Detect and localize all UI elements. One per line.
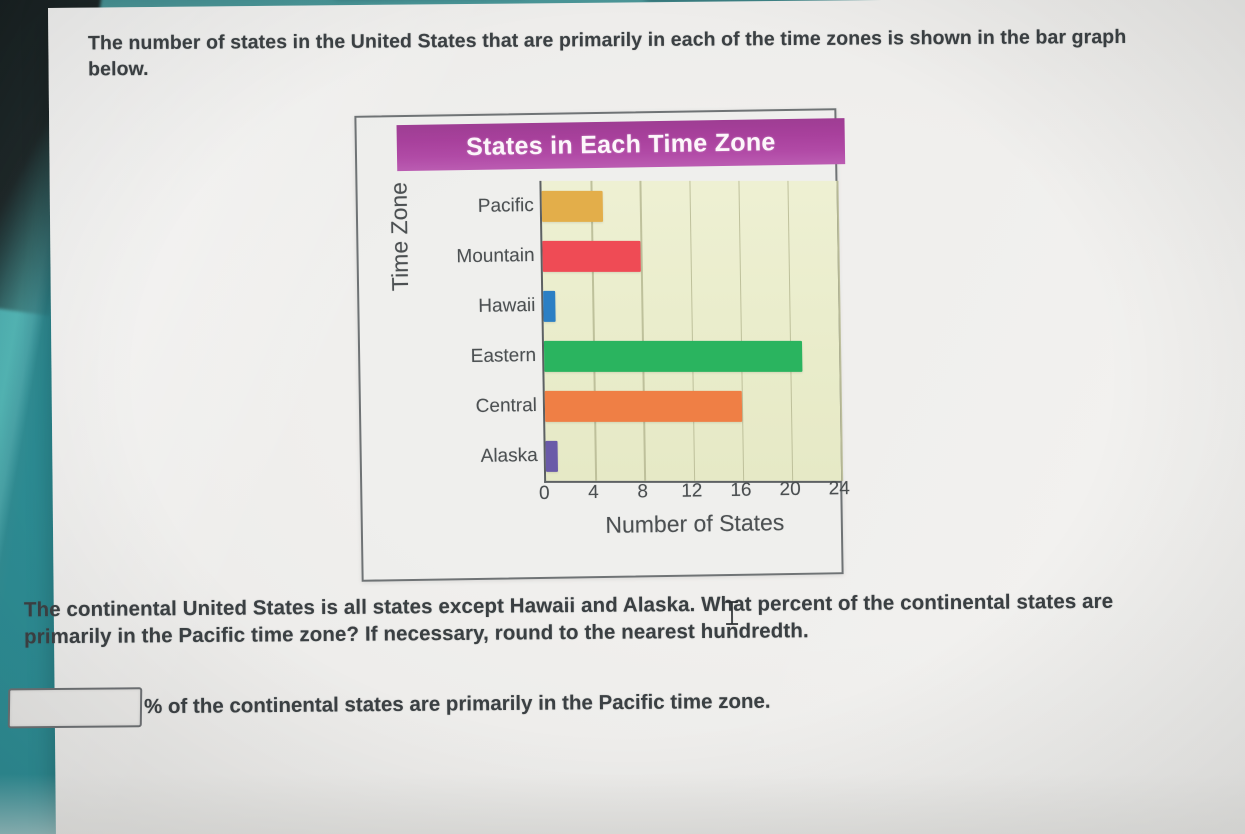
bar-row-central	[545, 381, 841, 431]
bar-eastern	[544, 340, 803, 371]
x-tick-20: 20	[779, 479, 800, 501]
x-axis-title: Number of States	[545, 508, 845, 540]
y-axis-label-mountain: Mountain	[436, 231, 537, 283]
intro-text: The number of states in the United State…	[88, 25, 1178, 83]
y-axis-label-hawaii: Hawaii	[437, 281, 538, 333]
y-axis-category-labels: Pacific Mountain Hawaii Eastern Central …	[435, 181, 540, 483]
worksheet-content: The number of states in the United State…	[0, 0, 1245, 834]
x-tick-12: 12	[681, 480, 702, 502]
x-axis-tick-labels: 04812162024	[544, 478, 854, 511]
answer-suffix-text: % of the continental states are primaril…	[144, 690, 771, 719]
bar-pacific	[542, 190, 604, 221]
y-axis-label-pacific: Pacific	[435, 181, 536, 233]
bar-chart-panel: States in Each Time Zone Time Zone Pacif…	[354, 108, 843, 582]
bar-row-mountain	[542, 231, 838, 281]
bar-hawaii	[543, 290, 556, 321]
x-tick-16: 16	[730, 480, 751, 502]
plot-wrapper: Time Zone Pacific Mountain Hawaii Easter…	[357, 166, 841, 579]
bar-central	[545, 390, 742, 421]
plot-area	[539, 181, 841, 483]
bar-row-eastern	[544, 331, 840, 381]
y-axis-label-alaska: Alaska	[439, 431, 540, 483]
y-axis-label-eastern: Eastern	[438, 331, 539, 383]
x-tick-0: 0	[539, 483, 550, 505]
x-tick-24: 24	[829, 478, 850, 500]
bar-row-pacific	[541, 181, 837, 231]
chart-title-bar: States in Each Time Zone	[397, 118, 846, 171]
bar-row-alaska	[545, 431, 841, 481]
x-tick-4: 4	[588, 482, 599, 504]
x-tick-8: 8	[637, 481, 648, 503]
answer-line: % of the continental states are primaril…	[8, 678, 1008, 731]
bar-alaska	[545, 440, 558, 471]
bar-mountain	[542, 240, 641, 271]
photo-frame: The number of states in the United State…	[0, 0, 1245, 834]
answer-input[interactable]	[8, 687, 142, 728]
y-axis-title: Time Zone	[385, 182, 414, 291]
bar-row-hawaii	[543, 281, 839, 331]
question-text: The continental United States is all sta…	[24, 588, 1134, 651]
chart-title: States in Each Time Zone	[466, 128, 776, 162]
bars-group	[541, 181, 841, 481]
y-axis-label-central: Central	[439, 381, 540, 433]
